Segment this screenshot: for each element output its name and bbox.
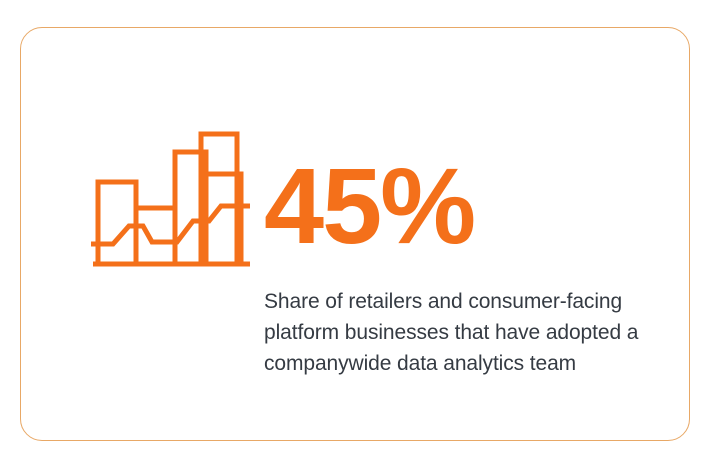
stat-content: 45% Share of retailers and consumer-faci…	[264, 158, 664, 379]
stat-card-inner: 45% Share of retailers and consumer-faci…	[21, 28, 689, 440]
stat-value: 45%	[264, 158, 664, 253]
stat-card: 45% Share of retailers and consumer-faci…	[20, 27, 690, 441]
bar-line-chart-icon	[89, 126, 254, 271]
stat-description: Share of retailers and consumer-facing p…	[264, 253, 654, 379]
